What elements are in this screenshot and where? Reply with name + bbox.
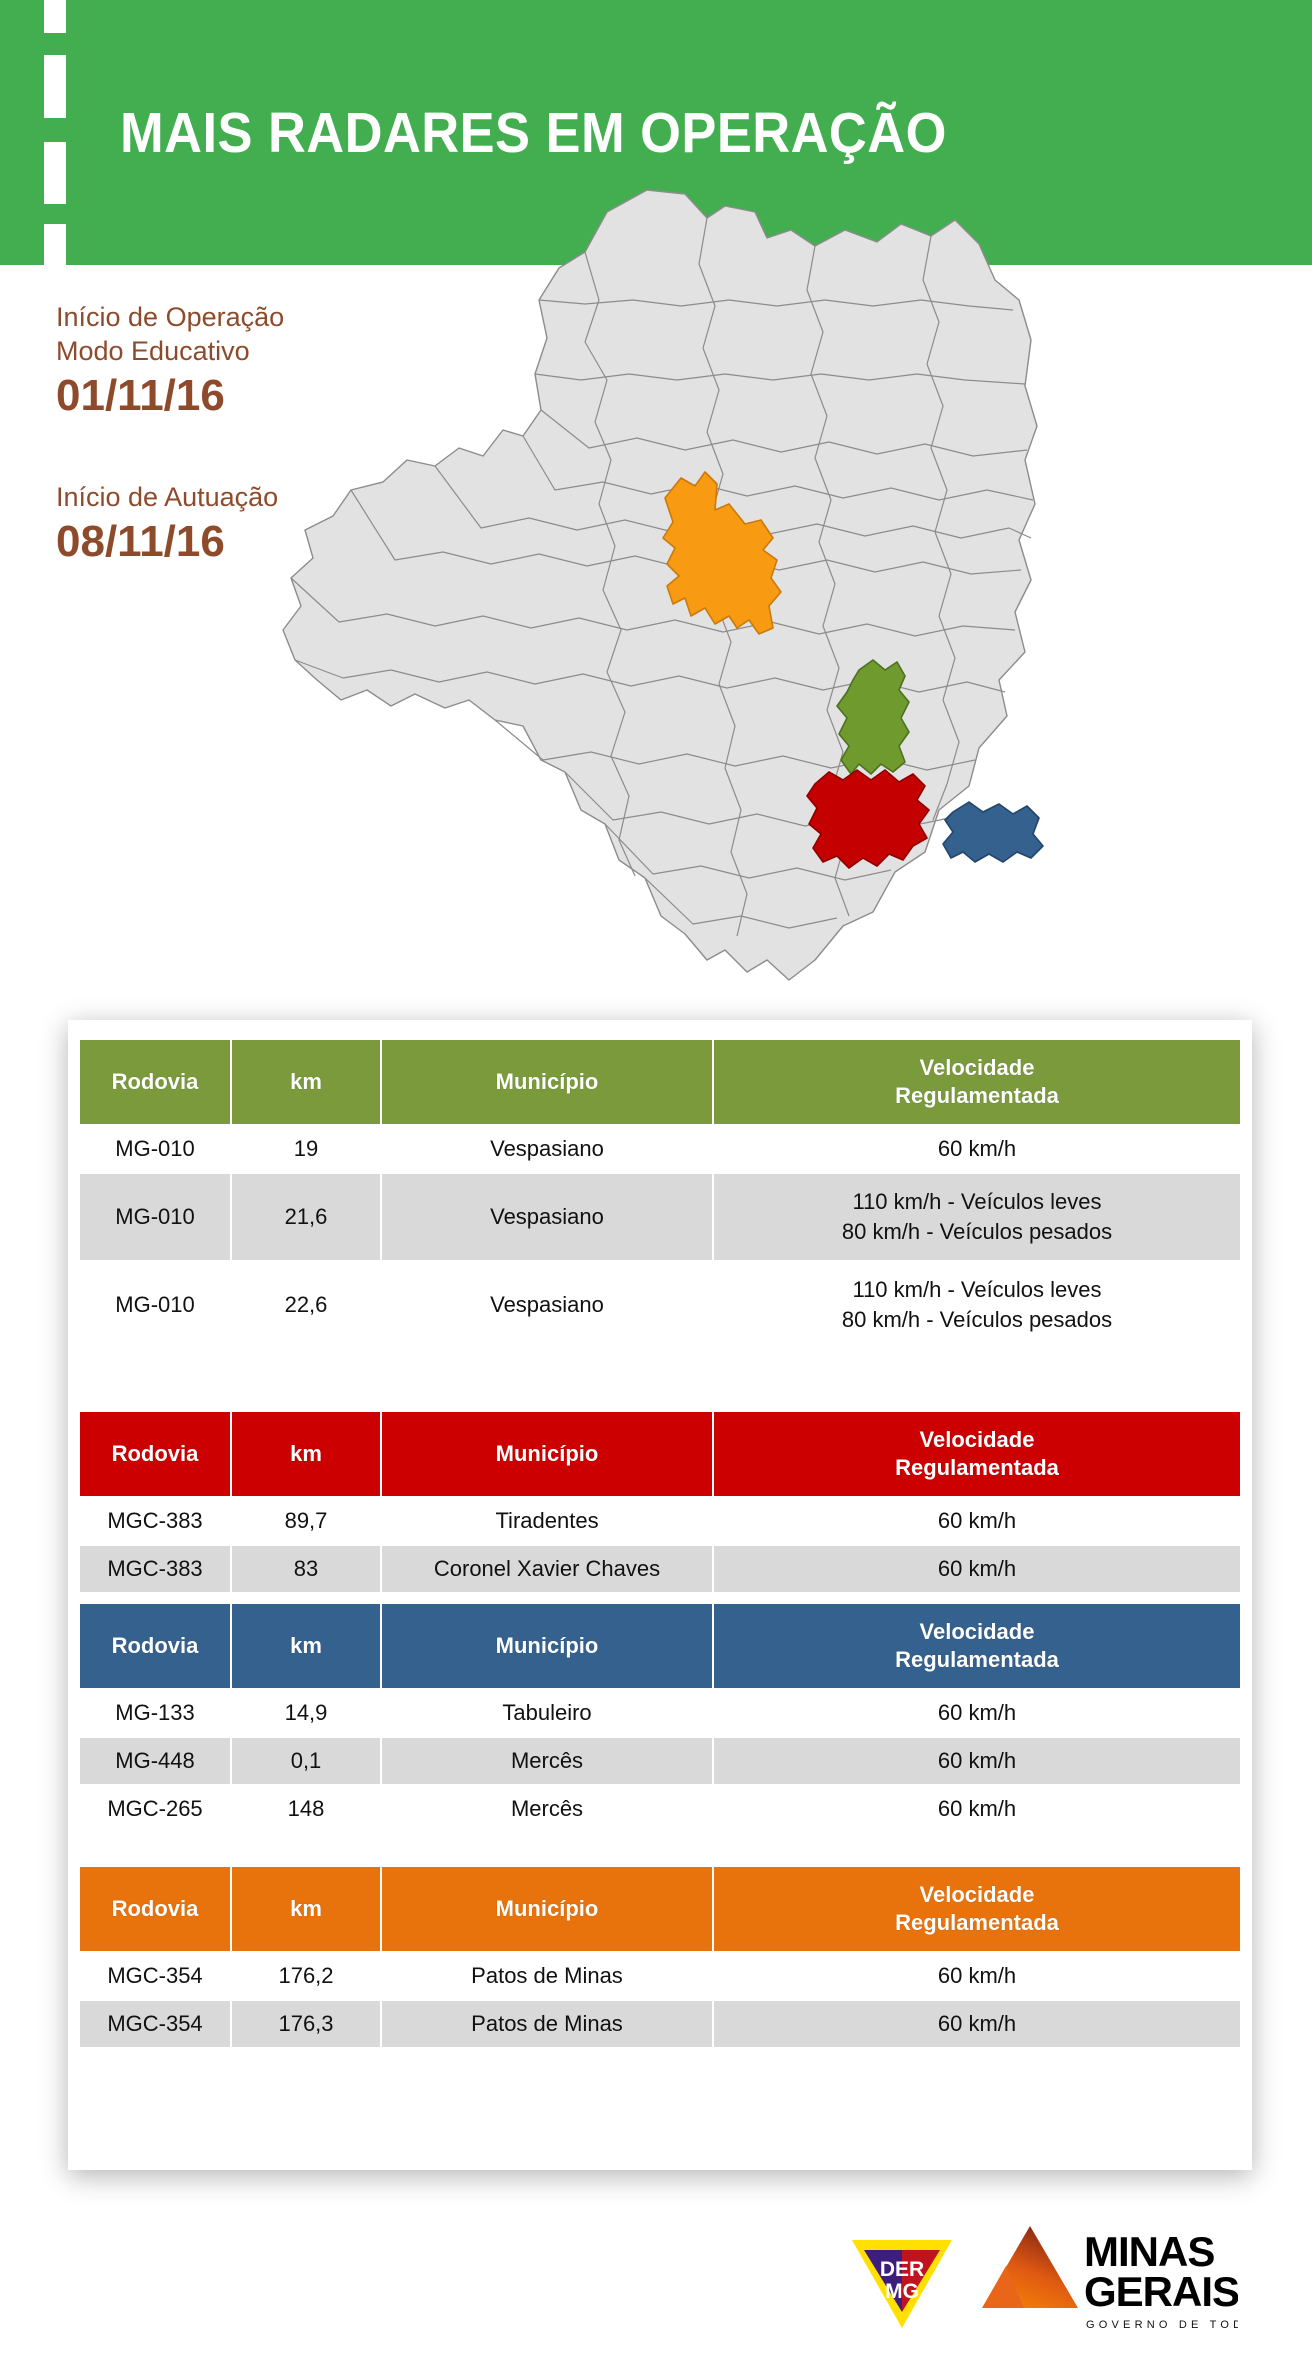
cell-km: 19 <box>232 1126 380 1172</box>
col-header-km: km <box>232 1867 380 1951</box>
table-header-row: Rodovia km Município Velocidade Regulame… <box>80 1604 1240 1688</box>
cell-velocidade: 110 km/h - Veículos leves 80 km/h - Veíc… <box>714 1262 1240 1348</box>
date-label-line1: Início de Operação <box>56 300 396 334</box>
col-header-km: km <box>232 1412 380 1496</box>
map-base-regions <box>283 190 1037 980</box>
table-row: MG-010 19 Vespasiano 60 km/h <box>80 1126 1240 1172</box>
svg-text:GERAIS: GERAIS <box>1084 2268 1238 2315</box>
col-header-velocidade-line1: Velocidade <box>714 1054 1240 1082</box>
col-header-velocidade-line1: Velocidade <box>714 1426 1240 1454</box>
cell-velocidade: 110 km/h - Veículos leves 80 km/h - Veíc… <box>714 1174 1240 1260</box>
cell-municipio: Tiradentes <box>382 1498 712 1544</box>
cell-municipio: Vespasiano <box>382 1262 712 1348</box>
date-value-autuacao: 08/11/16 <box>56 516 396 568</box>
col-header-velocidade-line2: Regulamentada <box>714 1454 1240 1482</box>
table-row: MG-010 22,6 Vespasiano 110 km/h - Veícul… <box>80 1262 1240 1348</box>
cell-velocidade: 60 km/h <box>714 1126 1240 1172</box>
cell-km: 176,2 <box>232 1953 380 1999</box>
radar-tables-card: Rodovia km Município Velocidade Regulame… <box>68 1020 1252 2170</box>
cell-velocidade: 60 km/h <box>714 1953 1240 1999</box>
cell-municipio: Vespasiano <box>382 1174 712 1260</box>
cell-velocidade: 60 km/h <box>714 2001 1240 2047</box>
cell-municipio: Coronel Xavier Chaves <box>382 1546 712 1592</box>
table-row: MGC-354 176,3 Patos de Minas 60 km/h <box>80 2001 1240 2047</box>
cell-municipio: Vespasiano <box>382 1126 712 1172</box>
svg-text:DER: DER <box>880 2258 924 2281</box>
col-header-velocidade: Velocidade Regulamentada <box>714 1604 1240 1688</box>
cell-rodovia: MG-133 <box>80 1690 230 1736</box>
cell-km: 83 <box>232 1546 380 1592</box>
col-header-km: km <box>232 1040 380 1124</box>
table-orange: Rodovia km Município Velocidade Regulame… <box>78 1865 1242 2049</box>
col-header-velocidade-line2: Regulamentada <box>714 1909 1240 1937</box>
col-header-velocidade: Velocidade Regulamentada <box>714 1412 1240 1496</box>
cell-rodovia: MG-010 <box>80 1262 230 1348</box>
cell-rodovia: MGC-354 <box>80 1953 230 1999</box>
col-header-velocidade-line2: Regulamentada <box>714 1646 1240 1674</box>
col-header-velocidade-line1: Velocidade <box>714 1618 1240 1646</box>
cell-rodovia: MGC-383 <box>80 1498 230 1544</box>
col-header-municipio: Município <box>382 1867 712 1951</box>
svg-text:MG: MG <box>885 2280 919 2303</box>
cell-velocidade-line2: 80 km/h - Veículos pesados <box>714 1217 1240 1247</box>
col-header-municipio: Município <box>382 1412 712 1496</box>
der-mg-logo: DER MG <box>848 2236 956 2332</box>
cell-velocidade: 60 km/h <box>714 1786 1240 1832</box>
map-internal-borders <box>291 218 1033 936</box>
cell-rodovia: MG-010 <box>80 1174 230 1260</box>
table-row: MG-010 21,6 Vespasiano 110 km/h - Veícul… <box>80 1174 1240 1260</box>
map-highlight-blue <box>943 802 1043 862</box>
col-header-velocidade-line1: Velocidade <box>714 1881 1240 1909</box>
table-header-row: Rodovia km Município Velocidade Regulame… <box>80 1040 1240 1124</box>
table-green: Rodovia km Município Velocidade Regulame… <box>78 1038 1242 1350</box>
date-label-autuacao: Início de Autuação <box>56 480 396 514</box>
map-highlight-red <box>807 770 929 868</box>
minas-gerais-governo-logo: MINAS GERAIS GOVERNO DE TODOS <box>978 2220 1238 2338</box>
date-label-line2: Modo Educativo <box>56 334 396 368</box>
col-header-km: km <box>232 1604 380 1688</box>
cell-velocidade: 60 km/h <box>714 1690 1240 1736</box>
date-group-operacao: Início de Operação Modo Educativo 01/11/… <box>56 300 396 422</box>
page-header: MAIS RADARES EM OPERAÇÃO <box>0 0 1312 265</box>
cell-rodovia: MGC-383 <box>80 1546 230 1592</box>
cell-km: 176,3 <box>232 2001 380 2047</box>
cell-municipio: Patos de Minas <box>382 1953 712 1999</box>
cell-km: 14,9 <box>232 1690 380 1736</box>
table-row: MGC-383 83 Coronel Xavier Chaves 60 km/h <box>80 1546 1240 1592</box>
table-row: MG-448 0,1 Mercês 60 km/h <box>80 1738 1240 1784</box>
date-group-autuacao: Início de Autuação 08/11/16 <box>56 480 396 568</box>
svg-text:GOVERNO DE TODOS: GOVERNO DE TODOS <box>1086 2319 1238 2331</box>
col-header-rodovia: Rodovia <box>80 1412 230 1496</box>
date-value-operacao: 01/11/16 <box>56 370 396 422</box>
cell-velocidade: 60 km/h <box>714 1498 1240 1544</box>
col-header-rodovia: Rodovia <box>80 1040 230 1124</box>
col-header-velocidade: Velocidade Regulamentada <box>714 1867 1240 1951</box>
footer-logos: DER MG MINAS GERAIS GOVERNO DE TODOS <box>0 2200 1312 2368</box>
table-row: MG-133 14,9 Tabuleiro 60 km/h <box>80 1690 1240 1736</box>
cell-velocidade-line1: 110 km/h - Veículos leves <box>714 1187 1240 1217</box>
cell-velocidade: 60 km/h <box>714 1738 1240 1784</box>
cell-km: 148 <box>232 1786 380 1832</box>
cell-rodovia: MG-010 <box>80 1126 230 1172</box>
col-header-rodovia: Rodovia <box>80 1867 230 1951</box>
table-header-row: Rodovia km Município Velocidade Regulame… <box>80 1867 1240 1951</box>
map-highlight-green <box>837 660 909 774</box>
cell-velocidade-line1: 60 km/h <box>714 1134 1240 1164</box>
cell-rodovia: MG-448 <box>80 1738 230 1784</box>
cell-municipio: Patos de Minas <box>382 2001 712 2047</box>
cell-km: 22,6 <box>232 1262 380 1348</box>
table-header-row: Rodovia km Município Velocidade Regulame… <box>80 1412 1240 1496</box>
col-header-rodovia: Rodovia <box>80 1604 230 1688</box>
cell-km: 21,6 <box>232 1174 380 1260</box>
road-dash-marking-icon <box>44 0 66 265</box>
cell-rodovia: MGC-265 <box>80 1786 230 1832</box>
col-header-municipio: Município <box>382 1604 712 1688</box>
table-row: MGC-354 176,2 Patos de Minas 60 km/h <box>80 1953 1240 1999</box>
col-header-municipio: Município <box>382 1040 712 1124</box>
table-row: MGC-383 89,7 Tiradentes 60 km/h <box>80 1498 1240 1544</box>
table-red: Rodovia km Município Velocidade Regulame… <box>78 1410 1242 1594</box>
col-header-velocidade: Velocidade Regulamentada <box>714 1040 1240 1124</box>
cell-km: 89,7 <box>232 1498 380 1544</box>
table-blue: Rodovia km Município Velocidade Regulame… <box>78 1602 1242 1834</box>
cell-velocidade-line1: 110 km/h - Veículos leves <box>714 1275 1240 1305</box>
map-highlight-orange <box>663 472 781 634</box>
cell-km: 0,1 <box>232 1738 380 1784</box>
page-title: MAIS RADARES EM OPERAÇÃO <box>120 0 947 265</box>
dates-panel: Início de Operação Modo Educativo 01/11/… <box>56 300 396 616</box>
cell-municipio: Mercês <box>382 1786 712 1832</box>
cell-velocidade: 60 km/h <box>714 1546 1240 1592</box>
cell-municipio: Tabuleiro <box>382 1690 712 1736</box>
col-header-velocidade-line2: Regulamentada <box>714 1082 1240 1110</box>
cell-rodovia: MGC-354 <box>80 2001 230 2047</box>
cell-velocidade-line2: 80 km/h - Veículos pesados <box>714 1305 1240 1335</box>
cell-municipio: Mercês <box>382 1738 712 1784</box>
table-row: MGC-265 148 Mercês 60 km/h <box>80 1786 1240 1832</box>
